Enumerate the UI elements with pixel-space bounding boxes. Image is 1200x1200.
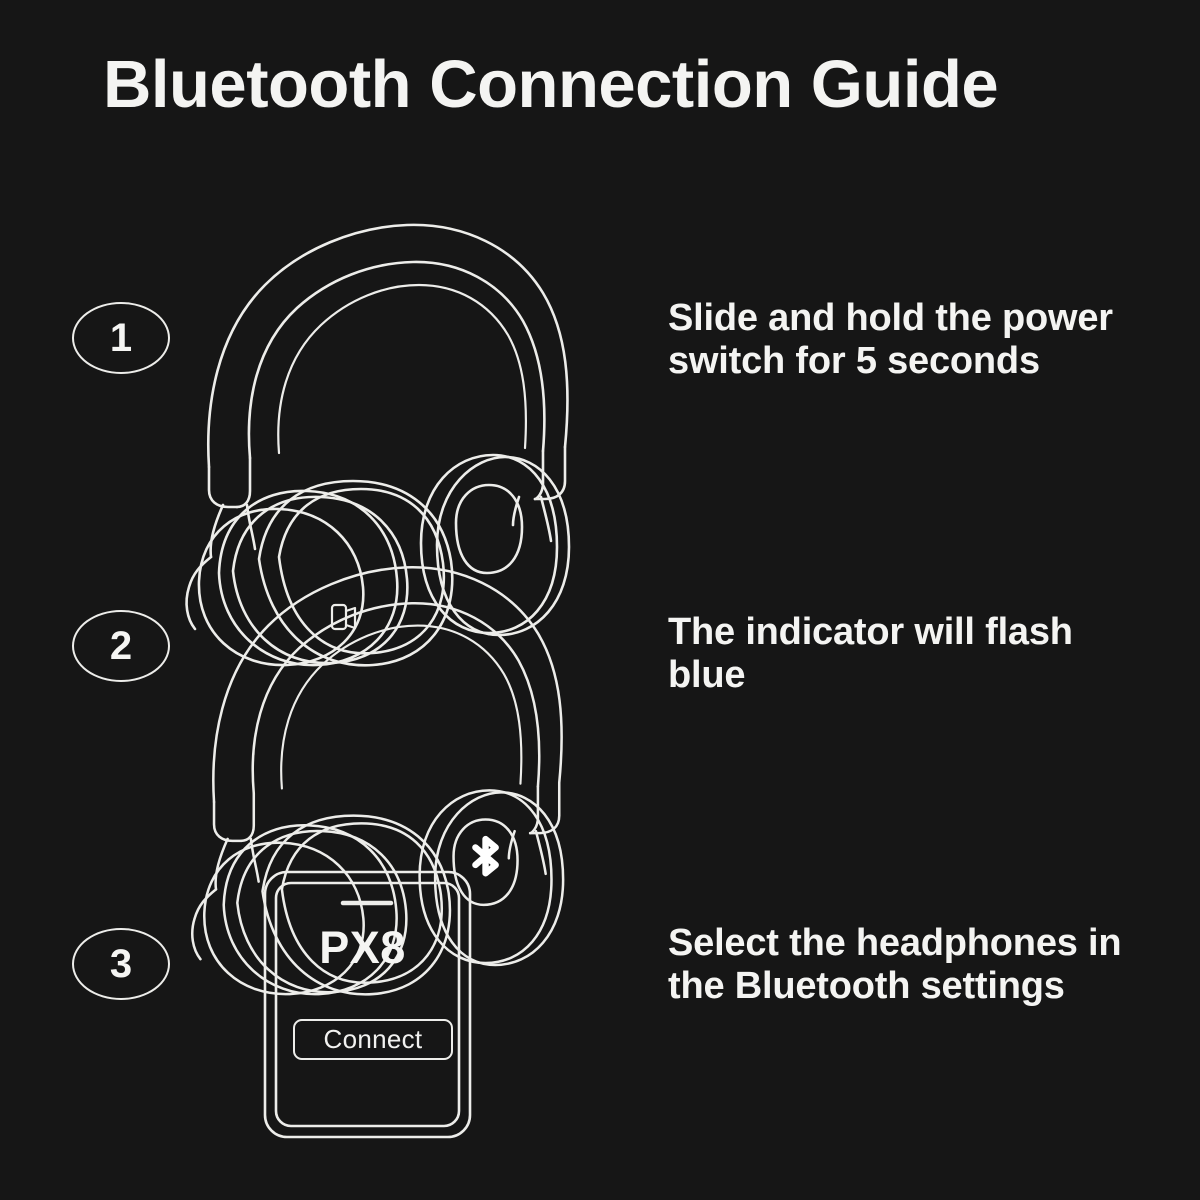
connect-button[interactable]: Connect (293, 1019, 453, 1060)
step-number-badge-3: 3 (72, 928, 170, 1000)
headphones-bluetooth-drawing (175, 548, 575, 868)
step-text-2: The indicator will flash blue (668, 611, 1138, 698)
left-yoke-top (209, 467, 237, 507)
step-row-3: 3 PX8 Connect Select the headphones in t… (0, 862, 1200, 1162)
step-text-1: Slide and hold the power switch for 5 se… (668, 297, 1138, 384)
right-yoke-top (530, 783, 559, 833)
right-yoke-top (535, 447, 565, 499)
headphones-power-switch-drawing (175, 205, 575, 535)
phone-outline-drawing (255, 862, 480, 1147)
step-number-3: 3 (110, 944, 132, 984)
headband-inner-arc (249, 262, 544, 458)
left-yoke-inner (241, 793, 254, 841)
right-arm-stem (541, 497, 551, 541)
step-row-2: 2 (0, 548, 1200, 868)
step-number-2: 2 (110, 626, 132, 666)
step-number-1: 1 (110, 318, 132, 358)
left-yoke-top (214, 802, 241, 841)
connect-button-label: Connect (324, 1024, 423, 1055)
phone-screen-outline (276, 883, 459, 1126)
page-title: Bluetooth Connection Guide (103, 48, 1093, 122)
left-yoke-inner (237, 458, 250, 507)
step-text-3: Select the headphones in the Bluetooth s… (668, 922, 1138, 1009)
headband-cushion-line (281, 626, 521, 789)
headband-inner-arc (253, 603, 540, 793)
bluetooth-connection-guide-poster: Bluetooth Connection Guide 1 (0, 0, 1200, 1200)
phone-illustration: PX8 Connect (255, 862, 480, 1147)
headband-cushion-line (278, 285, 526, 453)
phone-device-name: PX8 (255, 922, 470, 974)
step-row-1: 1 (0, 205, 1200, 535)
headphones-illustration-2 (175, 548, 575, 868)
step-number-badge-1: 1 (72, 302, 170, 374)
headphones-illustration-1 (175, 205, 575, 535)
phone-body-outline (265, 872, 470, 1137)
step-number-badge-2: 2 (72, 610, 170, 682)
